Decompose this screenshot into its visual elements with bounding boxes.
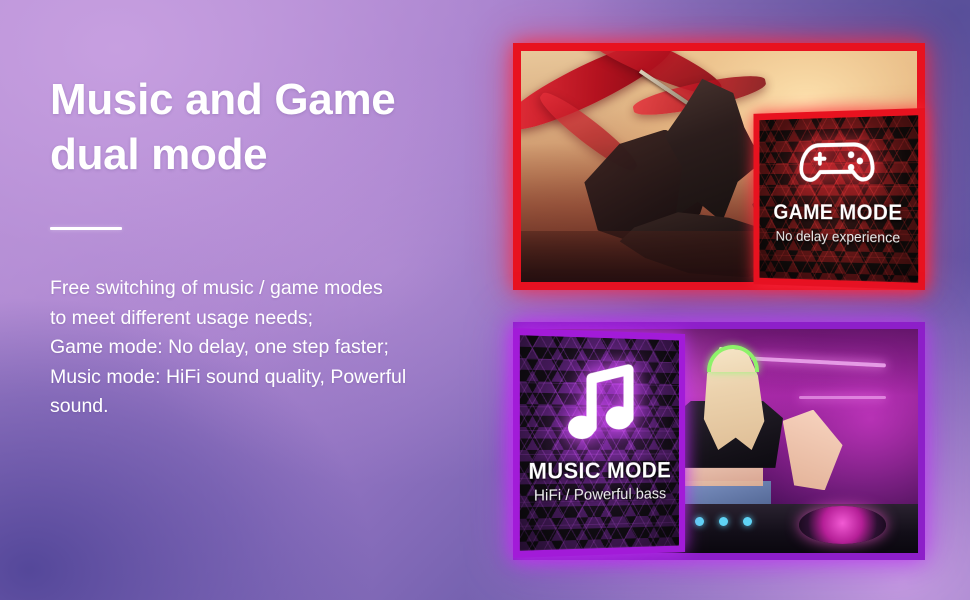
music-mode-card[interactable]: MUSIC MODE HiFi / Powerful bass bbox=[513, 328, 685, 558]
dj-art-knob bbox=[743, 517, 752, 526]
music-mode-title: MUSIC MODE bbox=[528, 457, 671, 485]
game-mode-subtitle: No delay experience bbox=[776, 228, 901, 246]
description-line-4: Music mode: HiFi sound quality, Powerful bbox=[50, 363, 500, 393]
page-title: Music and Game dual mode bbox=[50, 72, 500, 183]
headline-line-1: Music and Game bbox=[50, 72, 500, 127]
description-line-5: sound. bbox=[50, 392, 500, 422]
description-line-1: Free switching of music / game modes bbox=[50, 274, 500, 304]
music-note-icon bbox=[561, 358, 641, 454]
title-divider bbox=[50, 227, 122, 230]
game-mode-card[interactable]: GAME MODE No delay experience bbox=[754, 108, 925, 290]
game-mode-title: GAME MODE bbox=[773, 200, 902, 226]
description-line-3: Game mode: No delay, one step faster; bbox=[50, 333, 500, 363]
game-card-content: GAME MODE No delay experience bbox=[760, 115, 919, 283]
dj-art-neon-bar bbox=[799, 396, 887, 399]
description-text: Free switching of music / game modes to … bbox=[50, 274, 500, 422]
music-mode-subtitle: HiFi / Powerful bass bbox=[534, 486, 666, 506]
game-card-frame: GAME MODE No delay experience bbox=[754, 108, 925, 290]
headline-line-2: dual mode bbox=[50, 127, 500, 182]
dj-art-turntable bbox=[799, 506, 887, 544]
description-line-2: to meet different usage needs; bbox=[50, 304, 500, 334]
text-column: Music and Game dual mode Free switching … bbox=[50, 72, 500, 422]
gamepad-icon bbox=[795, 130, 879, 194]
music-card-content: MUSIC MODE HiFi / Powerful bass bbox=[520, 335, 679, 551]
music-card-frame: MUSIC MODE HiFi / Powerful bass bbox=[513, 328, 685, 558]
